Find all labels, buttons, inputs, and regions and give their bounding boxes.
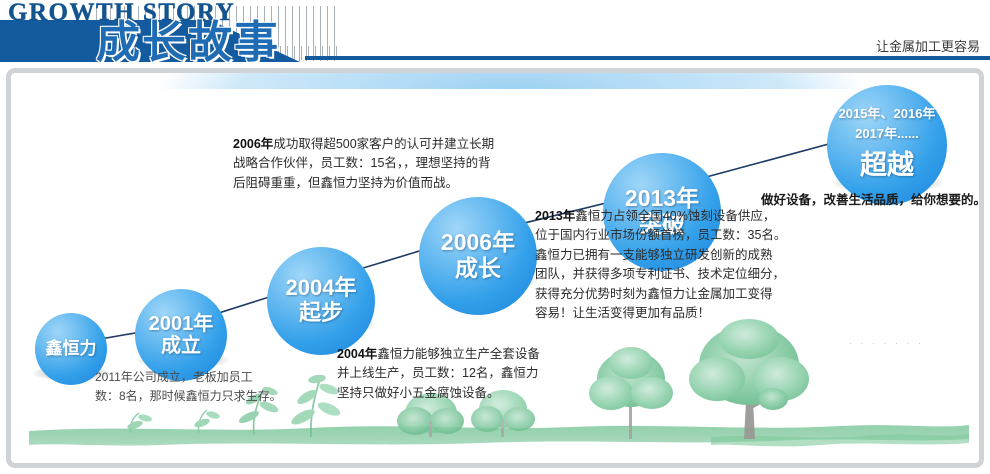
description-2013-year: 2013年 — [535, 209, 575, 223]
header-rule — [305, 56, 990, 60]
decorative-arc — [161, 68, 861, 89]
description-2004: 2004年鑫恒力能够独立生产全套设备 并上线生产，员工数：12名，鑫恒力 坚持只… — [337, 345, 587, 403]
bubble-2006-year: 2006年 — [441, 230, 515, 256]
sprout-small-2 — [193, 410, 220, 433]
page-header: GROWTH STORY 成长故事 让金属加工更容易 — [0, 0, 990, 64]
bubble-2004-year: 2004年 — [286, 276, 357, 301]
bubble-brand-label: 鑫恒力 — [46, 339, 97, 358]
description-2004-year: 2004年 — [337, 347, 377, 361]
header-chinese-title: 成长故事 — [96, 6, 280, 70]
grass-band — [29, 425, 969, 446]
description-2006: 2006年成功取得超500家客户的认可并建立长期 战略合作伙伴，员工数：15名，… — [233, 135, 593, 193]
bubble-2004[interactable]: 2004年 起步 — [267, 247, 375, 355]
description-2006-body: 成功取得超500家客户的认可并建立长期 战略合作伙伴，员工数：15名，，理想坚持… — [233, 137, 494, 190]
bubble-2006[interactable]: 2006年 成长 — [419, 197, 537, 315]
decorative-dots: · · · · · · · — [849, 338, 924, 348]
description-2013: 2013年鑫恒力占领全国40%蚀刻设备供应， 位于国内行业市场份额首榜，员工数：… — [535, 207, 825, 323]
tree-large — [689, 319, 809, 439]
bubble-future-years-1: 2015年、2016年 — [839, 104, 936, 124]
tree-small — [589, 347, 673, 439]
bubble-2001-word: 成立 — [161, 335, 201, 357]
growth-story-panel: 鑫恒力 2001年 成立 2011年公司成立，老板加员工 数：8名，那时候鑫恒力… — [6, 68, 984, 468]
bubble-future-years-2: 2017年...... — [855, 124, 919, 144]
bubble-2004-word: 起步 — [299, 301, 343, 326]
description-2001: 2011年公司成立，老板加员工 数：8名，那时候鑫恒力只求生存。 — [95, 368, 325, 405]
description-2013-body: 鑫恒力占领全国40%蚀刻设备供应， 位于国内行业市场份额首榜，员工数：35名。 … — [535, 209, 786, 320]
bubble-2001-year: 2001年 — [149, 313, 214, 335]
bubble-future-word: 超越 — [860, 145, 914, 186]
header-slogan: 让金属加工更容易 — [876, 36, 980, 55]
bubble-future[interactable]: 2015年、2016年 2017年...... 超越 — [827, 85, 947, 205]
closing-tagline: 做好设备，改善生活品质，给你想要的。 — [761, 189, 984, 208]
sprout-small-1 — [126, 413, 152, 433]
grass-tuft-right — [711, 434, 969, 446]
bubble-2006-word: 成长 — [455, 256, 501, 282]
description-2006-year: 2006年 — [233, 137, 273, 151]
